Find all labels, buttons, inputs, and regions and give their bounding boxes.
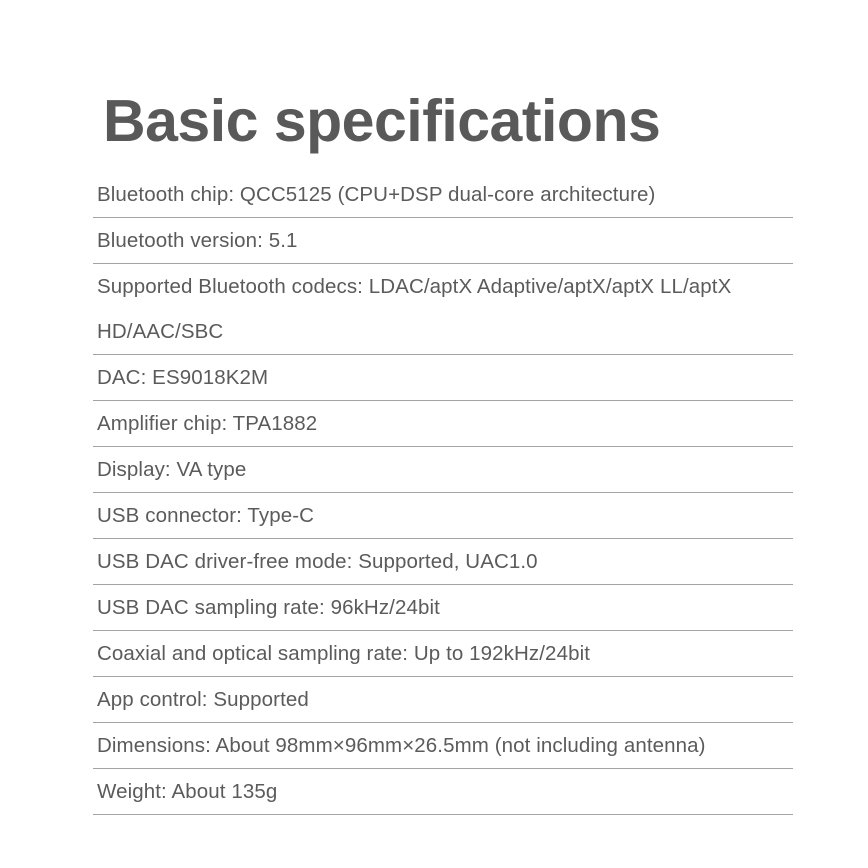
table-row: Dimensions: About 98mm×96mm×26.5mm (not …: [93, 723, 793, 769]
spec-row-label: USB connector: Type-C: [97, 493, 314, 538]
table-row: Display: VA type: [93, 447, 793, 493]
specifications-page: Basic specifications Bluetooth chip: QCC…: [0, 0, 868, 868]
spec-row-label: Display: VA type: [97, 447, 246, 492]
page-title: Basic specifications: [103, 92, 660, 151]
table-row: Bluetooth version: 5.1: [93, 218, 793, 264]
table-row: USB DAC sampling rate: 96kHz/24bit: [93, 585, 793, 631]
table-row: App control: Supported: [93, 677, 793, 723]
specifications-table: Bluetooth chip: QCC5125 (CPU+DSP dual-co…: [93, 172, 793, 815]
spec-row-label: App control: Supported: [97, 677, 309, 722]
spec-row-label: USB DAC driver-free mode: Supported, UAC…: [97, 539, 538, 584]
spec-row-label: Coaxial and optical sampling rate: Up to…: [97, 631, 590, 676]
spec-row-label: Dimensions: About 98mm×96mm×26.5mm (not …: [97, 723, 706, 768]
table-row: USB DAC driver-free mode: Supported, UAC…: [93, 539, 793, 585]
spec-row-label: USB DAC sampling rate: 96kHz/24bit: [97, 585, 440, 630]
spec-row-label: Amplifier chip: TPA1882: [97, 401, 317, 446]
table-row: Supported Bluetooth codecs: LDAC/aptX Ad…: [93, 264, 793, 355]
table-row: Amplifier chip: TPA1882: [93, 401, 793, 447]
table-row: Bluetooth chip: QCC5125 (CPU+DSP dual-co…: [93, 172, 793, 218]
spec-row-label: Weight: About 135g: [97, 769, 277, 814]
spec-row-label: DAC: ES9018K2M: [97, 355, 268, 400]
table-row: DAC: ES9018K2M: [93, 355, 793, 401]
table-row: USB connector: Type-C: [93, 493, 793, 539]
spec-row-label: Bluetooth chip: QCC5125 (CPU+DSP dual-co…: [97, 172, 655, 217]
spec-row-label: Bluetooth version: 5.1: [97, 218, 298, 263]
table-row: Weight: About 135g: [93, 769, 793, 815]
table-row: Coaxial and optical sampling rate: Up to…: [93, 631, 793, 677]
spec-row-label: Supported Bluetooth codecs: LDAC/aptX Ad…: [97, 264, 793, 354]
